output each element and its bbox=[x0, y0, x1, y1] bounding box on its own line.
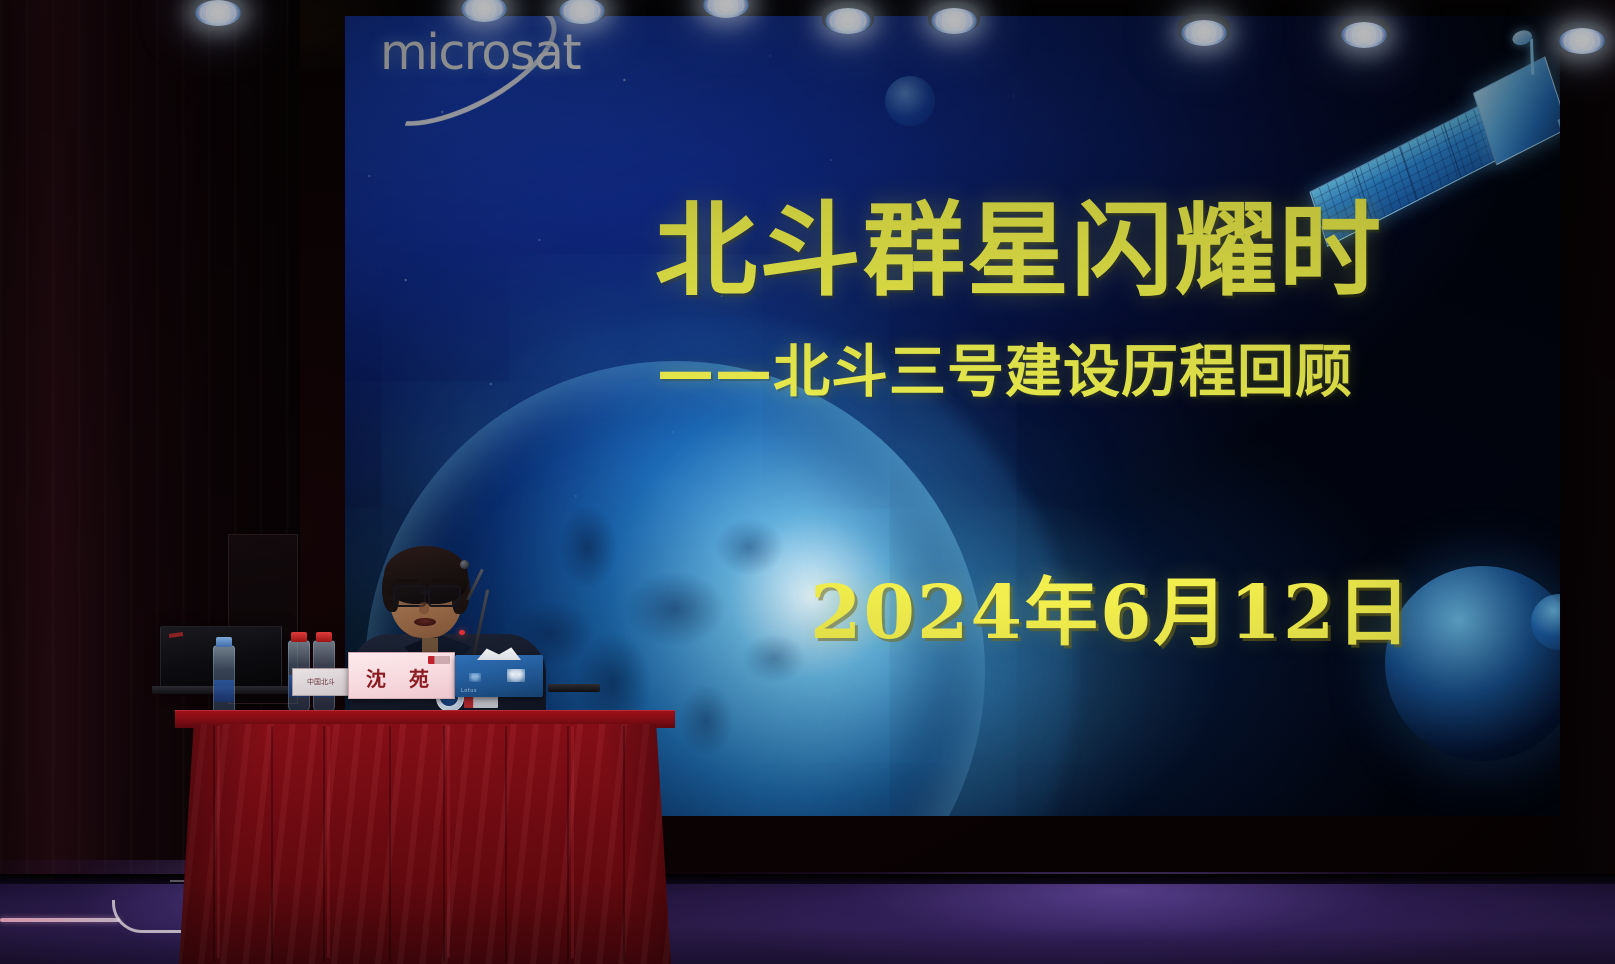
floor-cable bbox=[0, 918, 120, 922]
bottle-cap-blue bbox=[216, 637, 232, 647]
red-tablecloth bbox=[179, 724, 671, 964]
par-light-1-icon bbox=[195, 0, 241, 26]
nose bbox=[419, 602, 429, 614]
presentation-photo-scene: microsat 北斗群星闪耀时 ——北斗三号建设历程回顾 2024年6月12日 bbox=[0, 0, 1615, 964]
par-light-8-icon bbox=[1559, 28, 1605, 54]
secondary-placard-text: 中国北斗 bbox=[293, 669, 349, 695]
water-bottle-1 bbox=[213, 645, 235, 717]
eyeglasses-lens-right-icon bbox=[428, 585, 461, 607]
butterfly-icon bbox=[507, 669, 525, 682]
laptop-brand-logo-icon bbox=[169, 632, 183, 638]
tissue-box-label: Lotus bbox=[461, 688, 477, 694]
bottle-label bbox=[214, 680, 234, 702]
microphone-head-icon bbox=[460, 560, 469, 569]
par-light-5-icon bbox=[931, 8, 977, 34]
eyebrow-left bbox=[396, 579, 418, 582]
eyebrow-right bbox=[431, 579, 453, 582]
stage-curtain-right bbox=[1555, 0, 1615, 880]
par-light-7-icon bbox=[1341, 22, 1387, 48]
tissue-box: Lotus bbox=[455, 655, 543, 697]
par-light-4-icon bbox=[825, 8, 871, 34]
speaker-name: 沈 苑 bbox=[349, 663, 454, 692]
mouth bbox=[414, 618, 436, 626]
speaker-nameplate: 沈 苑 bbox=[348, 652, 455, 699]
bottle-cap-red bbox=[316, 632, 332, 642]
par-light-6-icon bbox=[1181, 20, 1227, 46]
secondary-placard: 中国北斗 bbox=[292, 668, 350, 696]
smartphone bbox=[548, 684, 600, 692]
floor-light-wash-right bbox=[620, 872, 1615, 964]
eyeglasses-bridge-icon bbox=[421, 591, 430, 594]
butterfly-icon-secondary bbox=[469, 673, 481, 682]
microphone-led-indicator bbox=[459, 630, 465, 635]
presentation-table bbox=[175, 710, 675, 964]
bottle-cap-red bbox=[291, 632, 307, 642]
